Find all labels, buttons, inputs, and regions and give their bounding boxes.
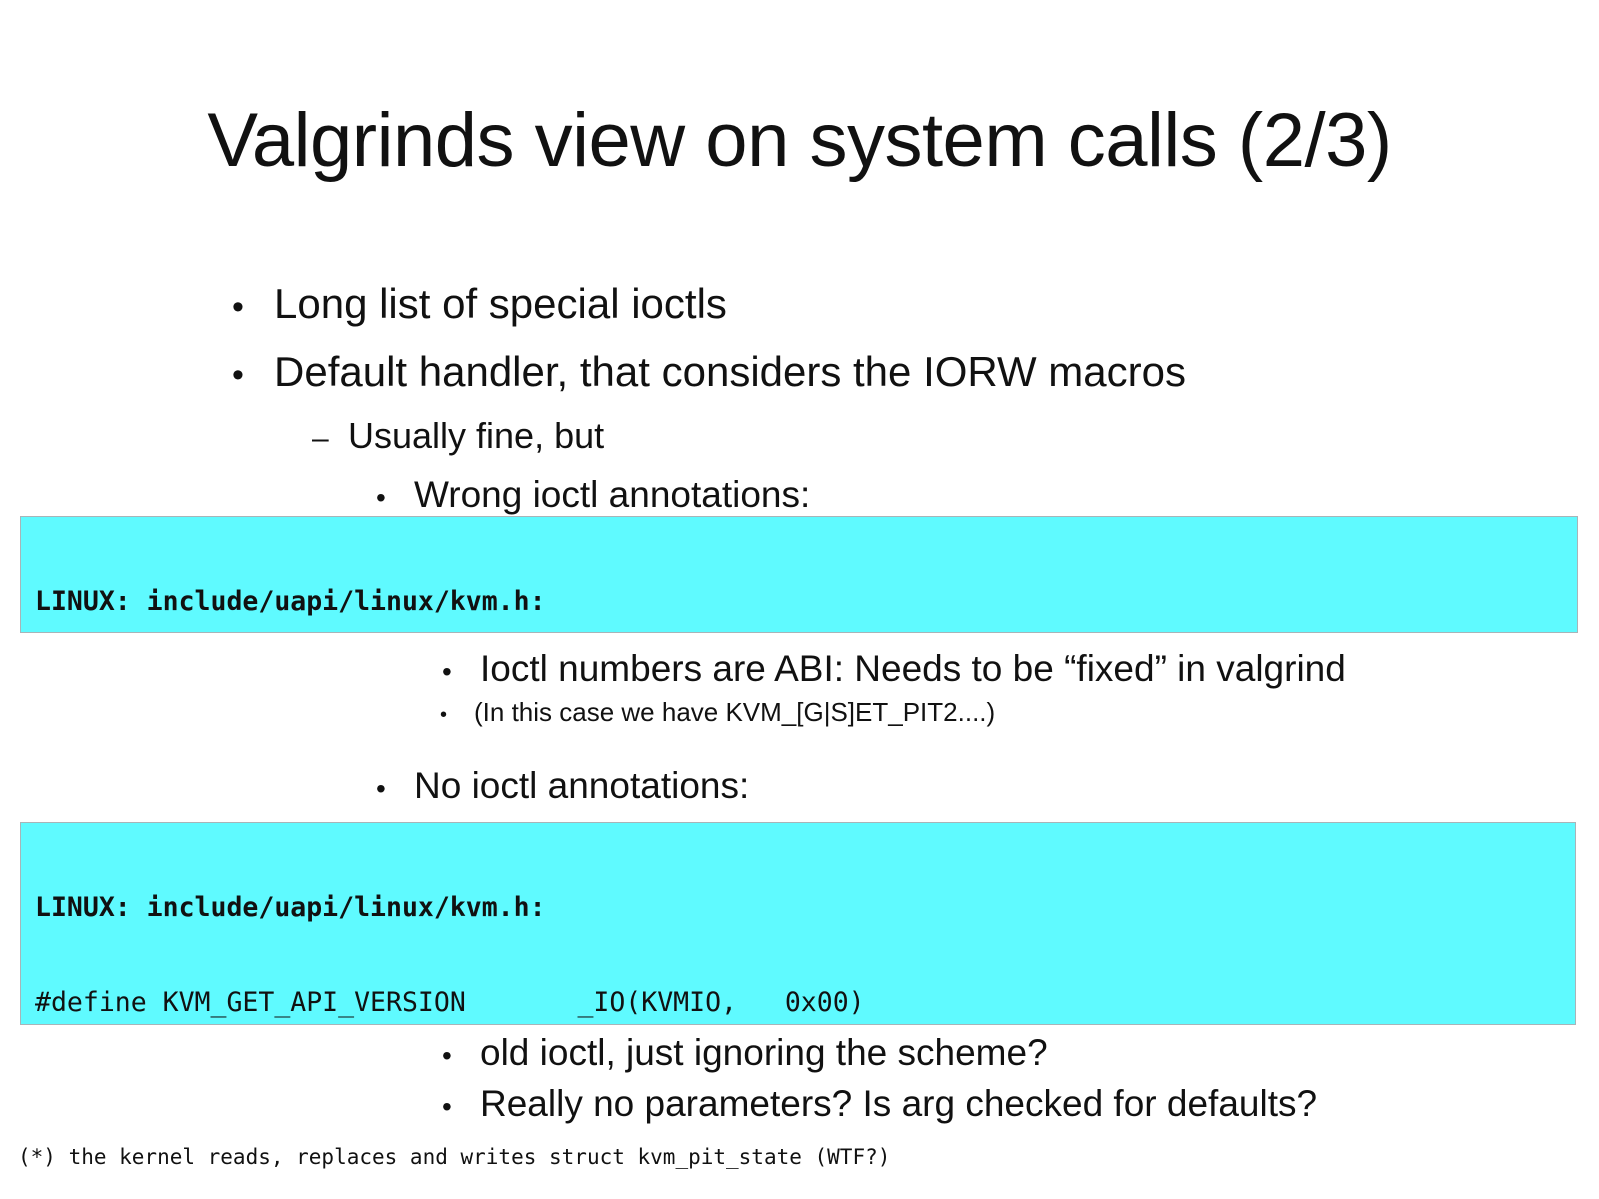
page-title: Valgrinds view on system calls (2/3) [0, 95, 1599, 187]
bullet-really-no-parameters: • Really no parameters? Is arg checked f… [442, 1081, 1317, 1129]
bullet-usually-fine-but: – Usually fine, but [312, 414, 604, 461]
slide-canvas: Valgrinds view on system calls (2/3) • L… [0, 0, 1599, 1199]
bullet-label: Default handler, that considers the IORW… [274, 347, 1186, 397]
bullet-default-handler: • Default handler, that considers the IO… [232, 347, 1186, 400]
bullet-no-ioctl-annotations: • No ioctl annotations: [376, 763, 749, 811]
bullet-wrong-ioctl-annotations: • Wrong ioctl annotations: [376, 472, 810, 520]
code-header-line: LINUX: include/uapi/linux/kvm.h: [35, 892, 1575, 924]
code-block-wrong-annotations: LINUX: include/uapi/linux/kvm.h: #define… [20, 516, 1578, 633]
bullet-dash-icon: – [312, 417, 348, 461]
bullet-old-ioctl-ignoring-scheme: • old ioctl, just ignoring the scheme? [442, 1030, 1048, 1078]
bullet-label: Ioctl numbers are ABI: Needs to be “fixe… [480, 646, 1346, 691]
code-line: #define KVM_GET_API_VERSION _IO(KVMIO, 0… [35, 987, 1575, 1019]
bullet-in-this-case-kvm-pit2: • (In this case we have KVM_[G|S]ET_PIT2… [440, 696, 995, 731]
bullet-label: No ioctl annotations: [414, 763, 749, 808]
bullet-label: Long list of special ioctls [274, 279, 727, 329]
bullet-marker-icon: • [376, 766, 414, 811]
bullet-marker-icon: • [376, 475, 414, 520]
bullet-marker-icon: • [442, 649, 480, 694]
code-header-line: LINUX: include/uapi/linux/kvm.h: [35, 586, 1577, 618]
bullet-label: Usually fine, but [348, 414, 604, 458]
bullet-label: Wrong ioctl annotations: [414, 472, 810, 517]
footnote-text: (*) the kernel reads, replaces and write… [18, 1144, 890, 1170]
bullet-marker-icon: • [442, 1084, 480, 1129]
bullet-long-list-of-special-ioctls: • Long list of special ioctls [232, 279, 727, 332]
bullet-ioctl-numbers-are-abi: • Ioctl numbers are ABI: Needs to be “fi… [442, 646, 1346, 694]
bullet-label: Really no parameters? Is arg checked for… [480, 1081, 1317, 1126]
bullet-marker-icon: • [232, 350, 274, 400]
bullet-marker-icon: • [440, 699, 474, 731]
bullet-marker-icon: • [232, 282, 274, 332]
code-block-no-annotations: LINUX: include/uapi/linux/kvm.h: #define… [20, 822, 1576, 1025]
bullet-label: (In this case we have KVM_[G|S]ET_PIT2..… [474, 696, 995, 728]
bullet-marker-icon: • [442, 1033, 480, 1078]
bullet-label: old ioctl, just ignoring the scheme? [480, 1030, 1048, 1075]
